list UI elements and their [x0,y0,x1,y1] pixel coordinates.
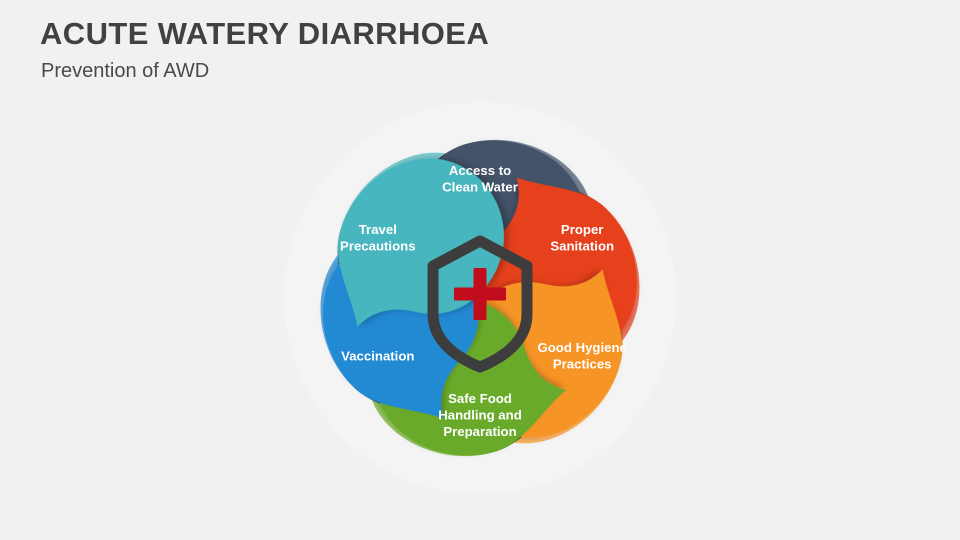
page-title: ACUTE WATERY DIARRHOEA [40,16,489,52]
slide-canvas: ACUTE WATERY DIARRHOEA Prevention of AWD… [0,0,960,540]
page-subtitle: Prevention of AWD [41,60,209,83]
diagram-svg: Access toClean WaterProperSanitationGood… [228,58,732,538]
prevention-cycle-diagram: Access toClean WaterProperSanitationGood… [228,58,732,538]
